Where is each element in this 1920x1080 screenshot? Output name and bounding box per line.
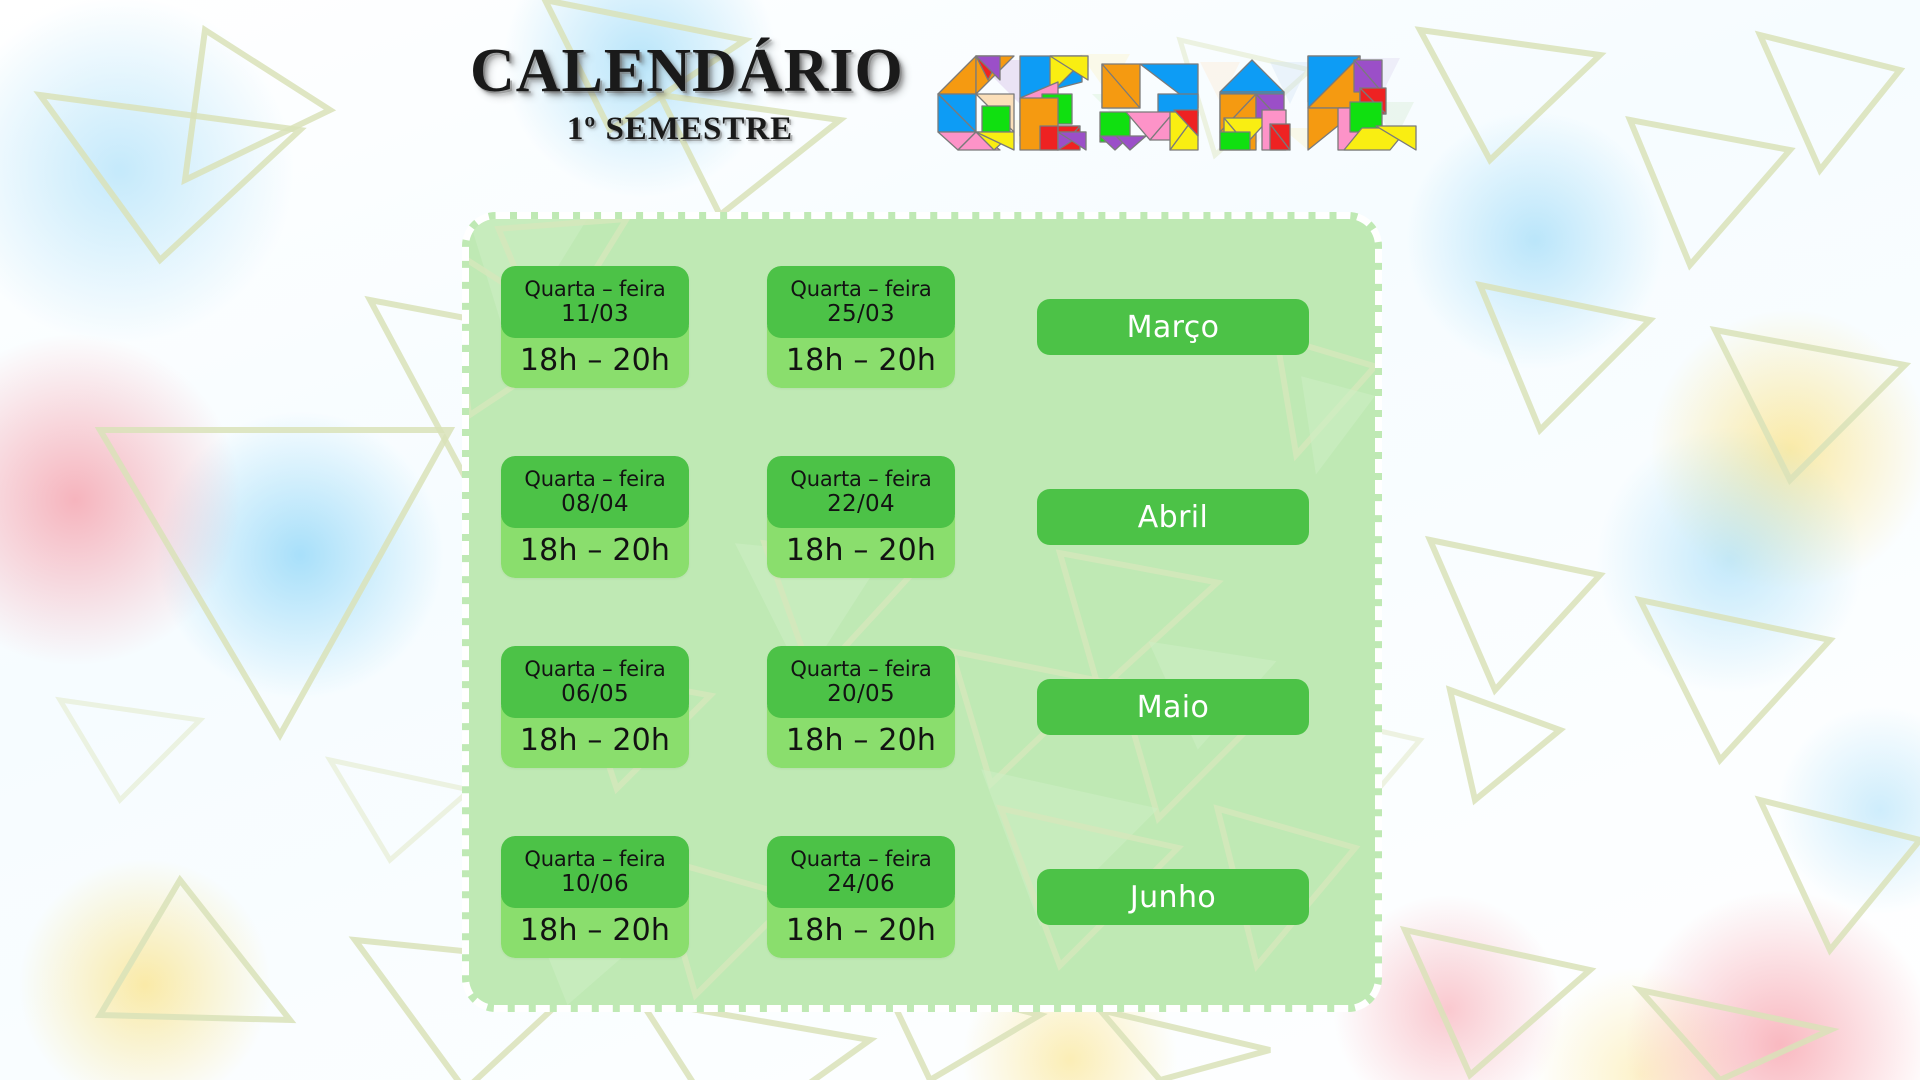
session-card-head: Quarta – feira 11/03 xyxy=(501,266,689,339)
session-date: 24/06 xyxy=(773,871,949,897)
session-date: 25/03 xyxy=(773,301,949,327)
session-card[interactable]: Quarta – feira 25/03 18h – 20h xyxy=(767,266,955,389)
session-card-head: Quarta – feira 06/05 xyxy=(501,646,689,719)
session-weekday: Quarta – feira xyxy=(773,278,949,302)
session-date: 20/05 xyxy=(773,681,949,707)
session-card-head: Quarta – feira 25/03 xyxy=(767,266,955,339)
session-card-head: Quarta – feira 24/06 xyxy=(767,836,955,909)
session-weekday: Quarta – feira xyxy=(773,468,949,492)
session-weekday: Quarta – feira xyxy=(773,658,949,682)
session-card[interactable]: Quarta – feira 06/05 18h – 20h xyxy=(501,646,689,769)
session-card[interactable]: Quarta – feira 22/04 18h – 20h xyxy=(767,456,955,579)
session-card[interactable]: Quarta – feira 20/05 18h – 20h xyxy=(767,646,955,769)
session-card[interactable]: Quarta – feira 08/04 18h – 20h xyxy=(501,456,689,579)
month-row-marco: Quarta – feira 11/03 18h – 20h Quarta – … xyxy=(501,247,1345,407)
page-header: CALENDÁRIO 1º SEMESTRE xyxy=(0,0,1920,190)
title-block: CALENDÁRIO 1º SEMESTRE xyxy=(470,40,890,148)
session-card-head: Quarta – feira 10/06 xyxy=(501,836,689,909)
session-card[interactable]: Quarta – feira 24/06 18h – 20h xyxy=(767,836,955,959)
page-title: CALENDÁRIO xyxy=(470,40,890,103)
session-weekday: Quarta – feira xyxy=(507,848,683,872)
session-date: 08/04 xyxy=(507,491,683,517)
session-card[interactable]: Quarta – feira 10/06 18h – 20h xyxy=(501,836,689,959)
session-date: 06/05 xyxy=(507,681,683,707)
page-subtitle: 1º SEMESTRE xyxy=(470,111,890,148)
session-date: 22/04 xyxy=(773,491,949,517)
session-card-head: Quarta – feira 22/04 xyxy=(767,456,955,529)
calendar-panel: Quarta – feira 11/03 18h – 20h Quarta – … xyxy=(462,212,1382,1012)
session-card-head: Quarta – feira 20/05 xyxy=(767,646,955,719)
session-date: 11/03 xyxy=(507,301,683,327)
month-row-maio: Quarta – feira 06/05 18h – 20h Quarta – … xyxy=(501,627,1345,787)
session-weekday: Quarta – feira xyxy=(507,278,683,302)
session-date: 10/06 xyxy=(507,871,683,897)
session-weekday: Quarta – feira xyxy=(507,658,683,682)
month-badge-marco[interactable]: Março xyxy=(1037,299,1309,355)
session-card-head: Quarta – feira 08/04 xyxy=(501,456,689,529)
session-weekday: Quarta – feira xyxy=(507,468,683,492)
month-badge-abril[interactable]: Abril xyxy=(1037,489,1309,545)
session-card[interactable]: Quarta – feira 11/03 18h – 20h xyxy=(501,266,689,389)
session-weekday: Quarta – feira xyxy=(773,848,949,872)
month-badge-maio[interactable]: Maio xyxy=(1037,679,1309,735)
month-badge-junho[interactable]: Junho xyxy=(1037,869,1309,925)
month-row-abril: Quarta – feira 08/04 18h – 20h Quarta – … xyxy=(501,437,1345,597)
month-row-junho: Quarta – feira 10/06 18h – 20h Quarta – … xyxy=(501,817,1345,977)
calendar-grid: Quarta – feira 11/03 18h – 20h Quarta – … xyxy=(469,219,1375,1005)
cemar-tangram-logo xyxy=(930,32,1420,152)
